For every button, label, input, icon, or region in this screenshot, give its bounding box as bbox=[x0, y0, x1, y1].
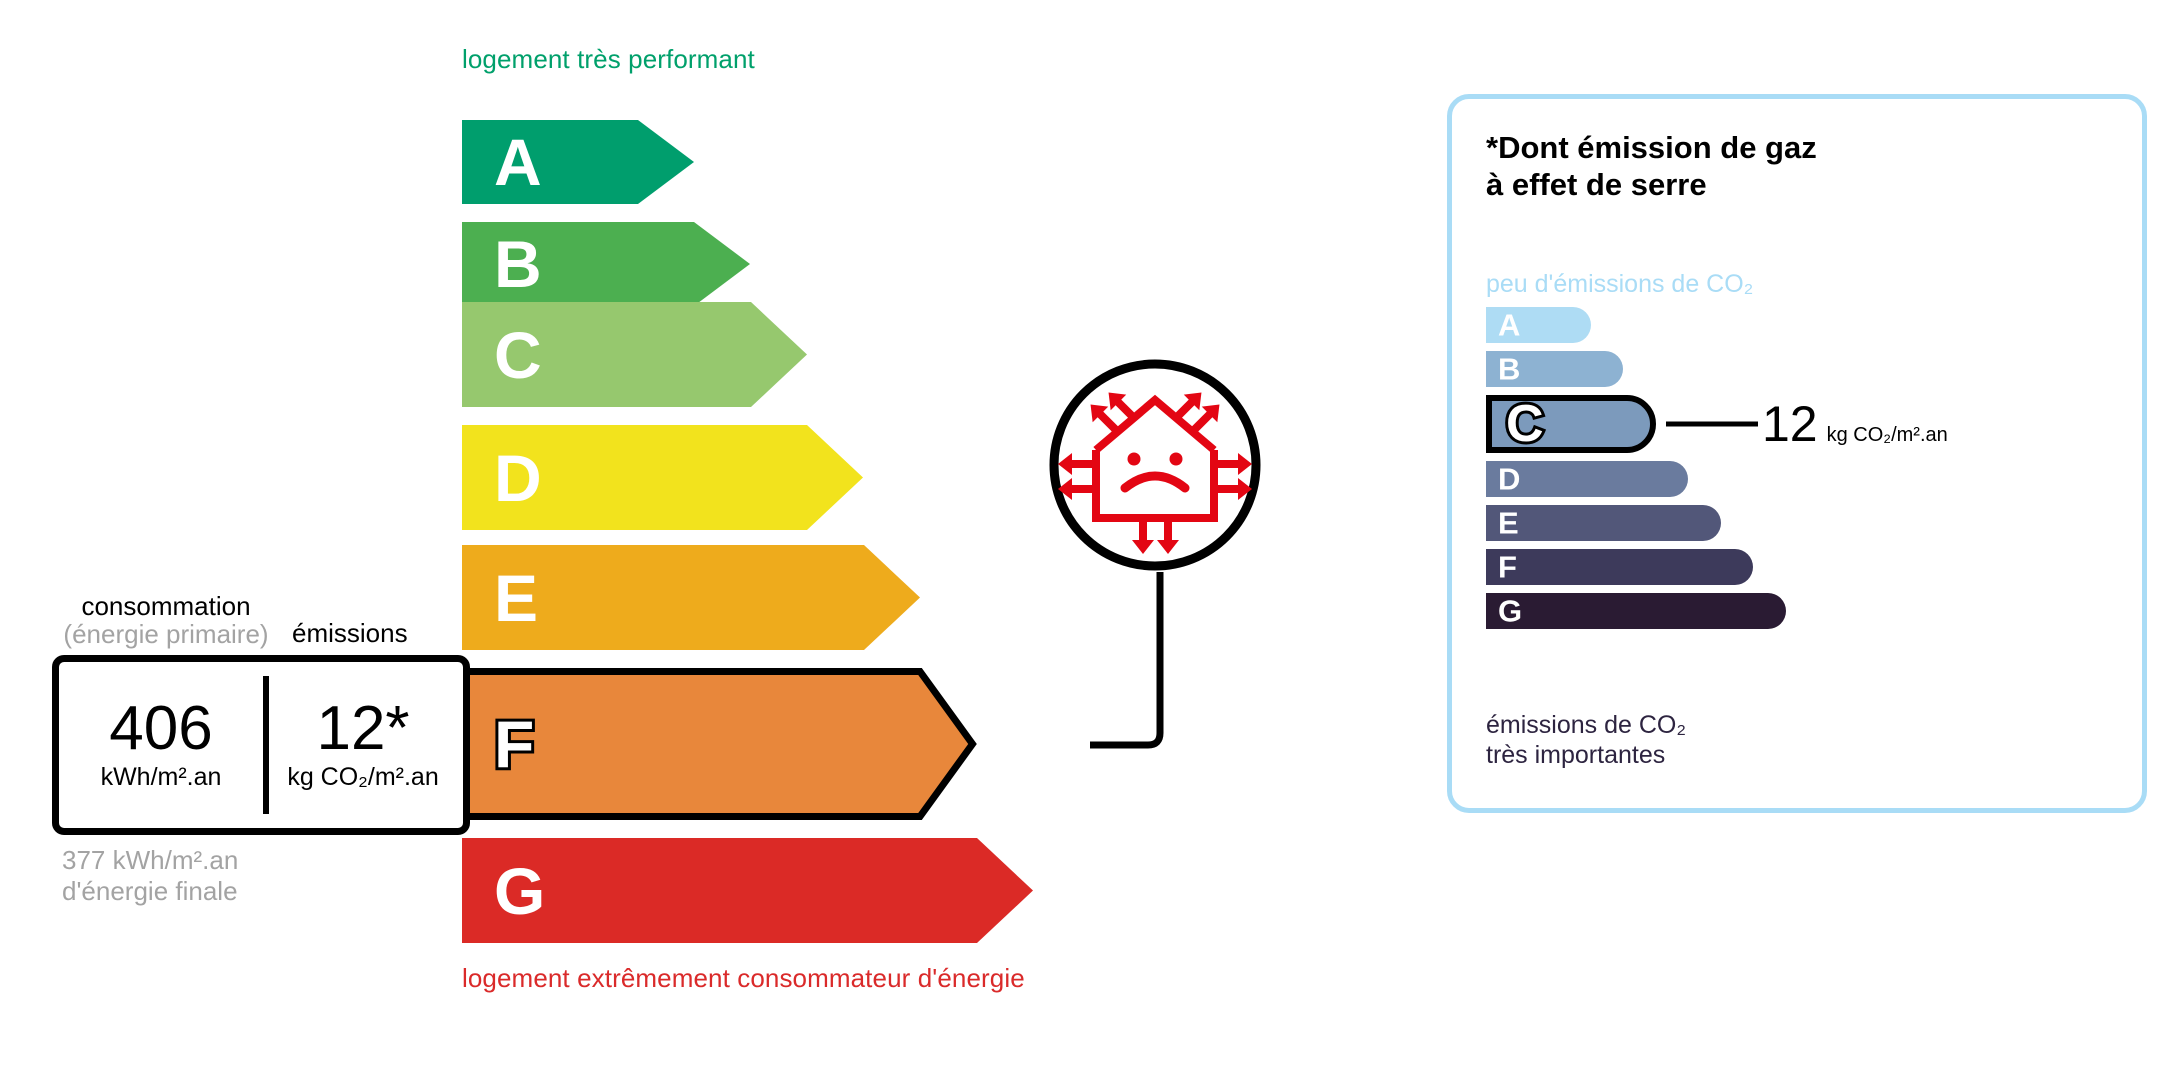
co2-scale-bottom-note: émissions de CO₂ très importantes bbox=[1486, 711, 1686, 770]
co2-band-e: E bbox=[1486, 505, 1721, 541]
primary-energy-value: 406 bbox=[109, 698, 212, 760]
emissions-unit: kg CO₂/m².an bbox=[287, 764, 438, 792]
co2-scale-bottom-note-line1: émissions de CO₂ bbox=[1486, 711, 1686, 741]
co2-band-g: G bbox=[1486, 593, 1786, 629]
dpe-diagram: logement très performant ABCDEFG bbox=[0, 0, 2169, 1079]
co2-band-f: F bbox=[1486, 549, 1753, 585]
co2-callout-line bbox=[1666, 422, 1758, 427]
co2-band-letter-g: G bbox=[1498, 596, 1522, 627]
co2-scale-top-note: peu d'émissions de CO₂ bbox=[1486, 270, 1753, 299]
house-heat-loss-sad-icon bbox=[1048, 358, 1262, 572]
emissions-value: 12* bbox=[316, 698, 409, 760]
co2-panel-title-line2: à effet de serre bbox=[1486, 167, 1817, 204]
co2-panel-title: *Dont émission de gaz à effet de serre bbox=[1486, 130, 1817, 203]
co2-scale-bottom-note-line2: très importantes bbox=[1486, 741, 1686, 771]
co2-band-letter-b: B bbox=[1498, 354, 1520, 385]
co2-band-ladder: ABC12kg CO₂/m².anDEFG bbox=[1486, 307, 2126, 637]
co2-callout-value: 12kg CO₂/m².an bbox=[1762, 399, 1948, 449]
co2-callout-unit: kg CO₂/m².an bbox=[1827, 424, 1948, 447]
co2-band-letter-f: F bbox=[1498, 552, 1517, 583]
consumption-value-box: 406 kWh/m².an 12* kg CO₂/m².an bbox=[52, 655, 470, 835]
co2-band-b: B bbox=[1486, 351, 1623, 387]
co2-band-d: D bbox=[1486, 461, 1688, 497]
co2-band-letter-e: E bbox=[1498, 508, 1519, 539]
primary-energy-unit: kWh/m².an bbox=[101, 764, 222, 792]
primary-energy-value-group: 406 kWh/m².an bbox=[59, 662, 263, 828]
co2-band-a: A bbox=[1486, 307, 1591, 343]
energy-performance-chart: logement très performant ABCDEFG bbox=[0, 0, 1400, 1079]
co2-band-letter-c: C bbox=[1506, 398, 1544, 450]
emissions-value-group: 12* kg CO₂/m².an bbox=[263, 662, 463, 828]
co2-emissions-panel: *Dont émission de gaz à effet de serre p… bbox=[1447, 94, 2147, 813]
co2-panel-title-line1: *Dont émission de gaz bbox=[1486, 130, 1817, 167]
co2-callout-number: 12 bbox=[1762, 399, 1818, 449]
co2-band-letter-d: D bbox=[1498, 464, 1520, 495]
co2-band-letter-a: A bbox=[1498, 310, 1520, 341]
co2-band-c: C12kg CO₂/m².an bbox=[1486, 395, 1656, 453]
